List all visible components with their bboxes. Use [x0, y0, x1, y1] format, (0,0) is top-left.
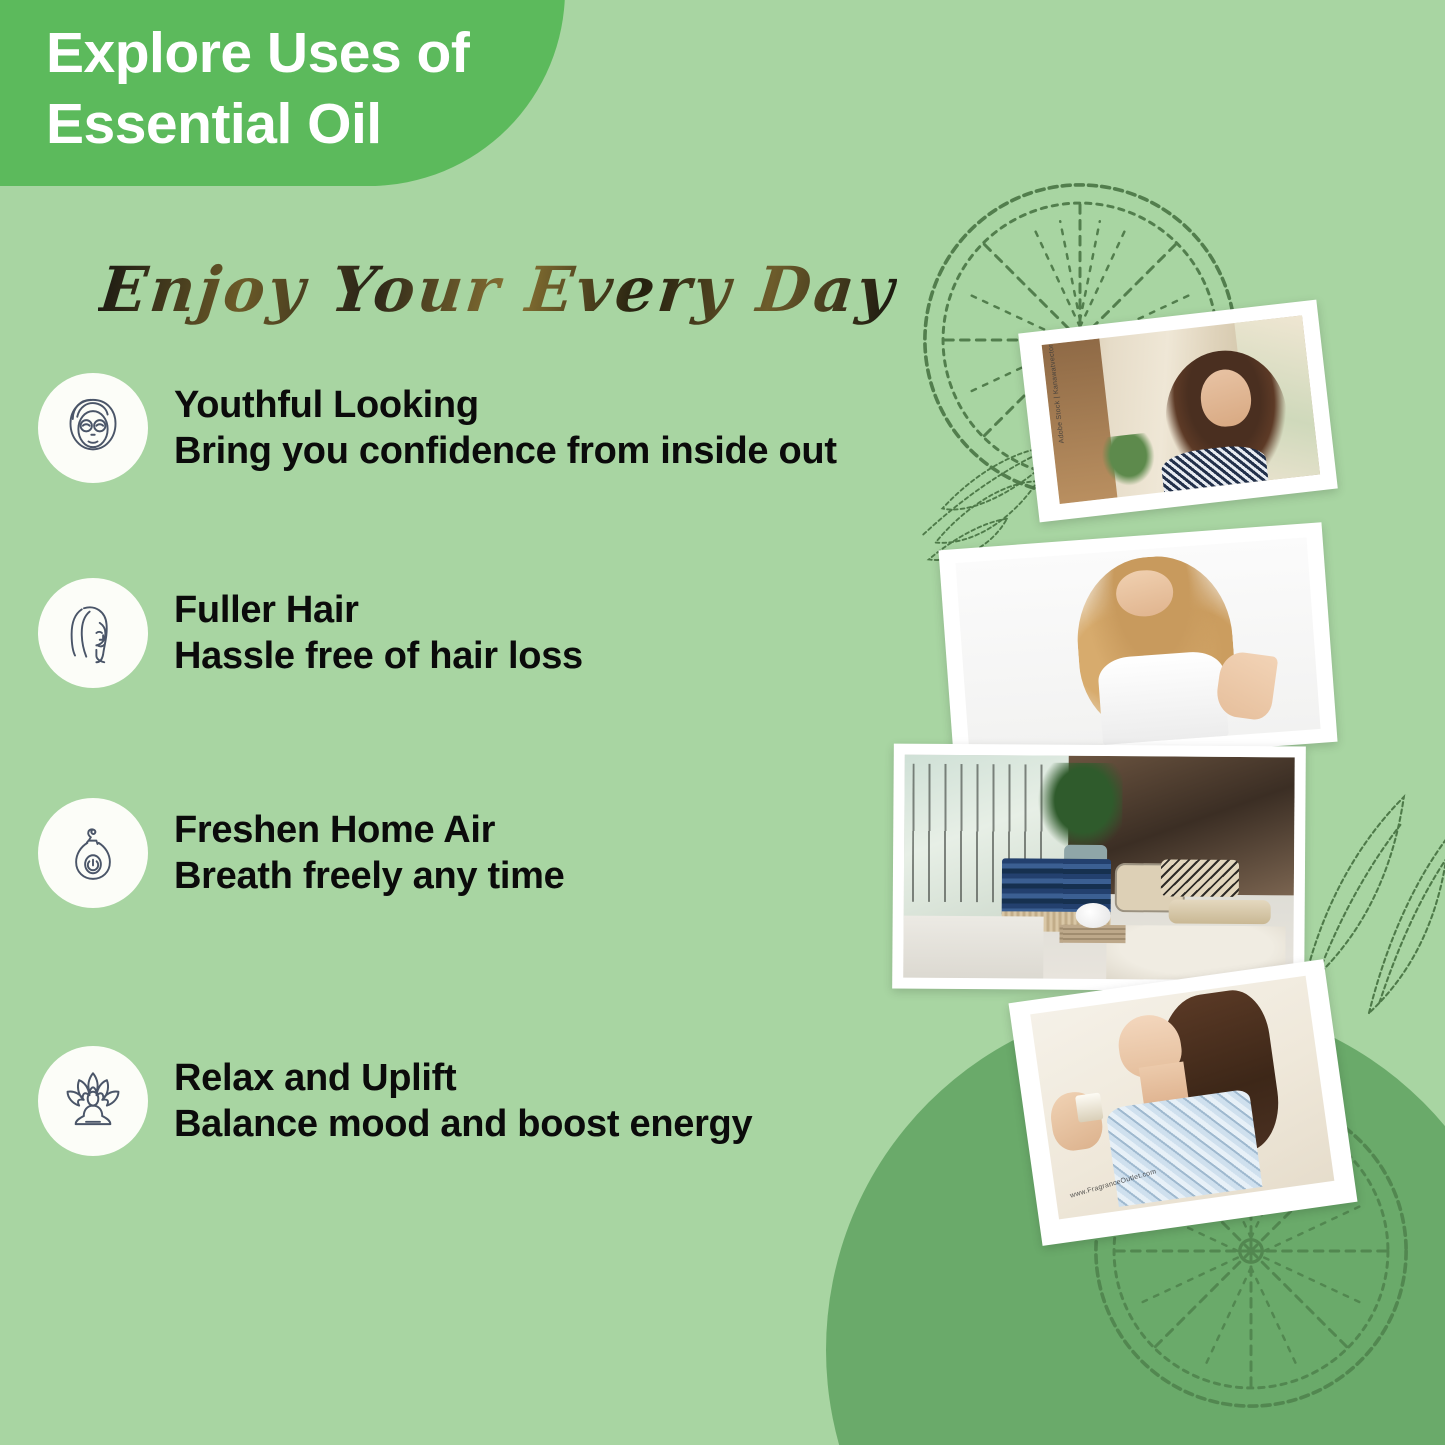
feature-title: Relax and Uplift	[174, 1055, 752, 1101]
feature-subtitle: Breath freely any time	[174, 853, 564, 899]
photo-image	[955, 537, 1320, 754]
photo-detail-white-top	[1097, 649, 1230, 746]
photo-detail-diffuser	[1075, 903, 1110, 928]
photo-detail-patterned-pillow	[1161, 859, 1239, 897]
photo-long-blonde-hair	[938, 522, 1337, 770]
photo-woman-applying-fragrance: www.FragranceOutlet.com	[1008, 959, 1357, 1246]
photo-image: www.FragranceOutlet.com	[1030, 976, 1334, 1220]
feature-row-freshen-home-air: Freshen Home Air Breath freely any time	[38, 798, 564, 908]
photo-detail-arm	[1215, 650, 1280, 722]
feature-subtitle: Hassle free of hair loss	[174, 633, 583, 679]
feature-subtitle: Bring you confidence from inside out	[174, 428, 837, 474]
long-hair-woman-icon	[38, 578, 148, 688]
photo-image: Adobe Stock | Kanawatvector	[1042, 315, 1320, 504]
photo-detail-book-stack	[1059, 925, 1125, 943]
face-mask-icon	[38, 373, 148, 483]
feature-title: Freshen Home Air	[174, 807, 564, 853]
feature-text-block: Freshen Home Air Breath freely any time	[174, 807, 564, 900]
photo-cozy-living-room	[892, 744, 1306, 992]
feature-subtitle: Balance mood and boost energy	[174, 1101, 752, 1147]
feature-text-block: Relax and Uplift Balance mood and boost …	[174, 1055, 752, 1148]
feature-text-block: Youthful Looking Bring you confidence fr…	[174, 382, 837, 475]
tagline: Enjoy Your Every Day	[96, 253, 900, 326]
infographic-canvas: Explore Uses of Essential Oil Enjoy Your…	[0, 0, 1445, 1445]
photo-detail-plant	[1100, 432, 1158, 489]
feature-row-relax-and-uplift: Relax and Uplift Balance mood and boost …	[38, 1046, 752, 1156]
feature-row-fuller-hair: Fuller Hair Hassle free of hair loss	[38, 578, 583, 688]
feature-title: Youthful Looking	[174, 382, 837, 428]
photo-detail-lace-top	[1105, 1088, 1262, 1207]
photo-detail-bolster	[1169, 899, 1271, 924]
aroma-diffuser-icon	[38, 798, 148, 908]
photo-woman-smiling: Adobe Stock | Kanawatvector	[1018, 300, 1338, 523]
photo-image	[903, 755, 1295, 981]
photo-detail-rug	[903, 915, 1044, 978]
photo-detail-plant	[1037, 762, 1123, 852]
feature-title: Fuller Hair	[174, 587, 583, 633]
feature-row-youthful-looking: Youthful Looking Bring you confidence fr…	[38, 373, 837, 483]
lotus-meditation-icon	[38, 1046, 148, 1156]
page-title: Explore Uses of Essential Oil	[46, 18, 666, 161]
photo-detail-perfume-bottle	[1075, 1092, 1104, 1122]
feature-text-block: Fuller Hair Hassle free of hair loss	[174, 587, 583, 680]
